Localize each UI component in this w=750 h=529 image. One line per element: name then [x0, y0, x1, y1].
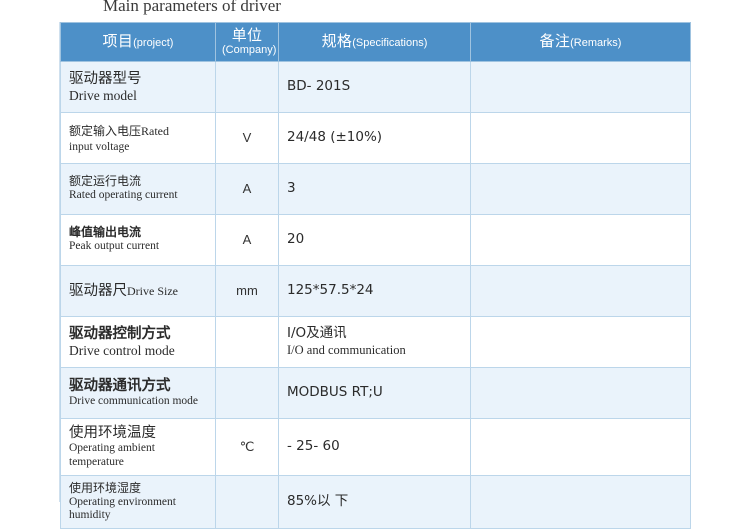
item-label-cn: 驱动器通讯方式	[69, 377, 207, 395]
row-item-peak-output-current: 峰值输出电流 Peak output current	[61, 214, 216, 265]
item-label-en: Operating environment humidity	[69, 496, 207, 524]
table-row: 使用环境湿度 Operating environment humidity 85…	[61, 475, 691, 529]
spec-value: BD- 201S	[287, 78, 462, 96]
item-label-line1: 额定输入电压Rated	[69, 122, 169, 139]
item-label-en: Drive control mode	[69, 343, 207, 359]
table-row: 驱动器控制方式 Drive control mode I/O及通讯 I/O an…	[61, 316, 691, 367]
row-spec-drive-size: 125*57.5*24	[279, 265, 471, 316]
row-unit-drive-model	[216, 61, 279, 112]
item-label-en: Operating ambient temperature	[69, 442, 207, 470]
item-label-en: Drive model	[69, 88, 207, 104]
row-item-rated-operating-current: 额定运行电流 Rated operating current	[61, 163, 216, 214]
spec-table-wrapper: 项目(project) 单位 (Company) 规格(Specificatio…	[60, 22, 690, 529]
item-label-cn: 使用环境湿度	[69, 481, 207, 496]
item-label-cn: 额定输入电压	[69, 124, 141, 138]
item-label-en: Drive communication mode	[69, 395, 207, 409]
row-spec-drive-communication-mode: MODBUS RT;U	[279, 367, 471, 418]
row-spec-drive-control-mode: I/O及通讯 I/O and communication	[279, 316, 471, 367]
table-body: 驱动器型号 Drive model BD- 201S 额定输入电压Rated i…	[61, 61, 691, 528]
row-remark-rated-input-voltage	[471, 112, 691, 163]
row-unit-drive-size: mm	[216, 265, 279, 316]
row-unit-rated-operating-current: A	[216, 163, 279, 214]
item-label-cn: 驱动器尺	[69, 283, 127, 299]
column-header-specifications-cn: 规格	[322, 32, 353, 50]
row-remark-drive-size	[471, 265, 691, 316]
row-unit-drive-communication-mode	[216, 367, 279, 418]
column-header-remarks: 备注(Remarks)	[471, 23, 691, 62]
item-label-en-part: Drive Size	[127, 284, 178, 298]
item-label-line2: input voltage	[69, 141, 207, 155]
spec-value: - 25- 60	[287, 438, 462, 456]
column-header-project: 项目(project)	[61, 23, 216, 62]
row-remark-drive-communication-mode	[471, 367, 691, 418]
spec-value: 125*57.5*24	[287, 282, 462, 300]
row-spec-peak-output-current: 20	[279, 214, 471, 265]
item-label-cn: 额定运行电流	[69, 174, 207, 189]
row-unit-rated-input-voltage: V	[216, 112, 279, 163]
row-remark-drive-model	[471, 61, 691, 112]
spec-value: 24/48 (±10%)	[287, 129, 462, 147]
item-label-cn: 驱动器型号	[69, 70, 207, 88]
spec-value-en: I/O and communication	[287, 343, 462, 359]
table-row: 驱动器通讯方式 Drive communication mode MODBUS …	[61, 367, 691, 418]
column-header-unit-cn: 单位	[222, 27, 272, 44]
driver-parameters-table: 项目(project) 单位 (Company) 规格(Specificatio…	[60, 22, 691, 529]
column-header-project-cn: 项目	[103, 32, 134, 50]
column-header-unit: 单位 (Company)	[216, 23, 279, 62]
column-header-specifications: 规格(Specifications)	[279, 23, 471, 62]
row-spec-rated-operating-current: 3	[279, 163, 471, 214]
item-label-cn: 使用环境温度	[69, 424, 207, 442]
row-item-drive-size: 驱动器尺Drive Size	[61, 265, 216, 316]
item-label-en-part: Rated	[141, 124, 169, 138]
row-unit-operating-ambient-temperature: ℃	[216, 418, 279, 475]
item-label-cn: 峰值输出电流	[69, 225, 207, 240]
row-spec-operating-ambient-temperature: - 25- 60	[279, 418, 471, 475]
table-row: 驱动器尺Drive Size mm 125*57.5*24	[61, 265, 691, 316]
table-row: 额定输入电压Rated input voltage V 24/48 (±10%)	[61, 112, 691, 163]
spec-value: I/O及通讯	[287, 325, 462, 343]
spec-value: 85%以 下	[287, 493, 462, 511]
item-label-line1: 驱动器尺Drive Size	[69, 282, 178, 299]
table-header-row: 项目(project) 单位 (Company) 规格(Specificatio…	[61, 23, 691, 62]
column-header-project-en: (project)	[133, 37, 173, 49]
row-remark-operating-ambient-temperature	[471, 418, 691, 475]
table-row: 峰值输出电流 Peak output current A 20	[61, 214, 691, 265]
row-item-drive-model: 驱动器型号 Drive model	[61, 61, 216, 112]
row-item-drive-communication-mode: 驱动器通讯方式 Drive communication mode	[61, 367, 216, 418]
row-item-operating-environment-humidity: 使用环境湿度 Operating environment humidity	[61, 475, 216, 529]
row-spec-operating-environment-humidity: 85%以 下	[279, 475, 471, 529]
row-remark-peak-output-current	[471, 214, 691, 265]
row-item-drive-control-mode: 驱动器控制方式 Drive control mode	[61, 316, 216, 367]
item-label-en: Rated operating current	[69, 189, 207, 203]
row-unit-drive-control-mode	[216, 316, 279, 367]
row-unit-peak-output-current: A	[216, 214, 279, 265]
column-header-remarks-en: (Remarks)	[570, 37, 621, 49]
column-header-specifications-en: (Specifications)	[352, 37, 427, 49]
page-title: Main parameters of driver	[103, 0, 281, 16]
row-item-operating-ambient-temperature: 使用环境温度 Operating ambient temperature	[61, 418, 216, 475]
column-header-unit-en: (Company)	[222, 44, 272, 57]
row-remark-drive-control-mode	[471, 316, 691, 367]
table-header: 项目(project) 单位 (Company) 规格(Specificatio…	[61, 23, 691, 62]
row-remark-rated-operating-current	[471, 163, 691, 214]
spec-value: MODBUS RT;U	[287, 384, 462, 402]
row-item-rated-input-voltage: 额定输入电压Rated input voltage	[61, 112, 216, 163]
row-remark-operating-environment-humidity	[471, 475, 691, 529]
item-label-en: Peak output current	[69, 240, 207, 254]
table-row: 额定运行电流 Rated operating current A 3	[61, 163, 691, 214]
spec-value: 20	[287, 231, 462, 249]
row-spec-rated-input-voltage: 24/48 (±10%)	[279, 112, 471, 163]
column-header-remarks-cn: 备注	[540, 32, 571, 50]
table-row: 驱动器型号 Drive model BD- 201S	[61, 61, 691, 112]
spec-value: 3	[287, 180, 462, 198]
row-unit-operating-environment-humidity	[216, 475, 279, 529]
item-label-cn: 驱动器控制方式	[69, 325, 207, 343]
row-spec-drive-model: BD- 201S	[279, 61, 471, 112]
table-row: 使用环境温度 Operating ambient temperature ℃ -…	[61, 418, 691, 475]
